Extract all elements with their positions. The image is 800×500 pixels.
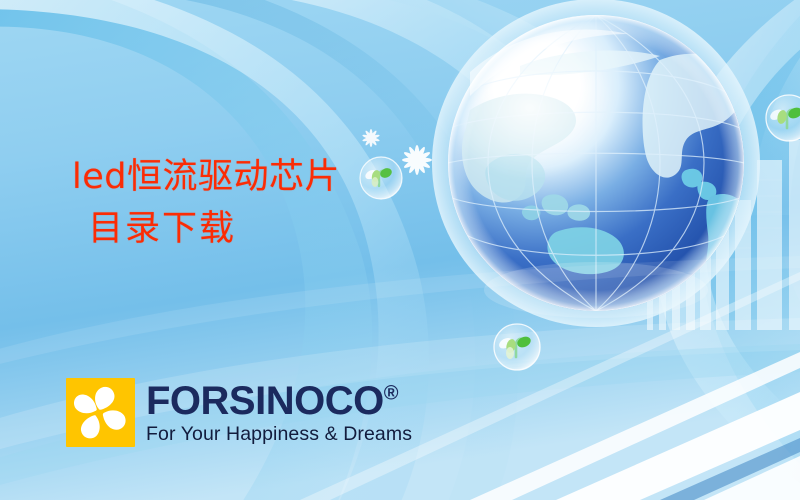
forsinoco-logo[interactable]: FORSINOCO® For Your Happiness & Dreams <box>66 378 412 447</box>
bubble-sprout-lower <box>494 324 540 370</box>
bubble-sprout-right <box>766 95 800 141</box>
flower-left <box>402 145 432 175</box>
logo-wordmark: FORSINOCO® For Your Happiness & Dreams <box>146 378 412 446</box>
globe-continents <box>462 44 746 289</box>
globe-grid <box>448 15 744 311</box>
earth-globe <box>432 0 760 327</box>
promo-banner: led恒流驱动芯片 目录下载 FORSINOCO® For Your Happi… <box>0 0 800 500</box>
registered-trademark-icon: ® <box>384 383 399 405</box>
forsinoco-pinwheel-mark <box>66 378 135 447</box>
headline-line-2: 目录下载 <box>72 210 340 249</box>
flower-upper <box>362 129 380 147</box>
ribbon-swirls-bottom <box>0 256 800 496</box>
headline-block: led恒流驱动芯片 目录下载 <box>72 158 340 249</box>
brand-name-text: FORSINOCO <box>146 379 384 423</box>
headline-line-1: led恒流驱动芯片 <box>72 158 340 197</box>
bubble-sprout-upper <box>360 157 402 199</box>
city-skyline <box>647 140 800 330</box>
brand-name: FORSINOCO® <box>146 382 412 421</box>
brand-tagline: For Your Happiness & Dreams <box>146 423 412 445</box>
ribbon-swirls-right <box>655 0 800 500</box>
